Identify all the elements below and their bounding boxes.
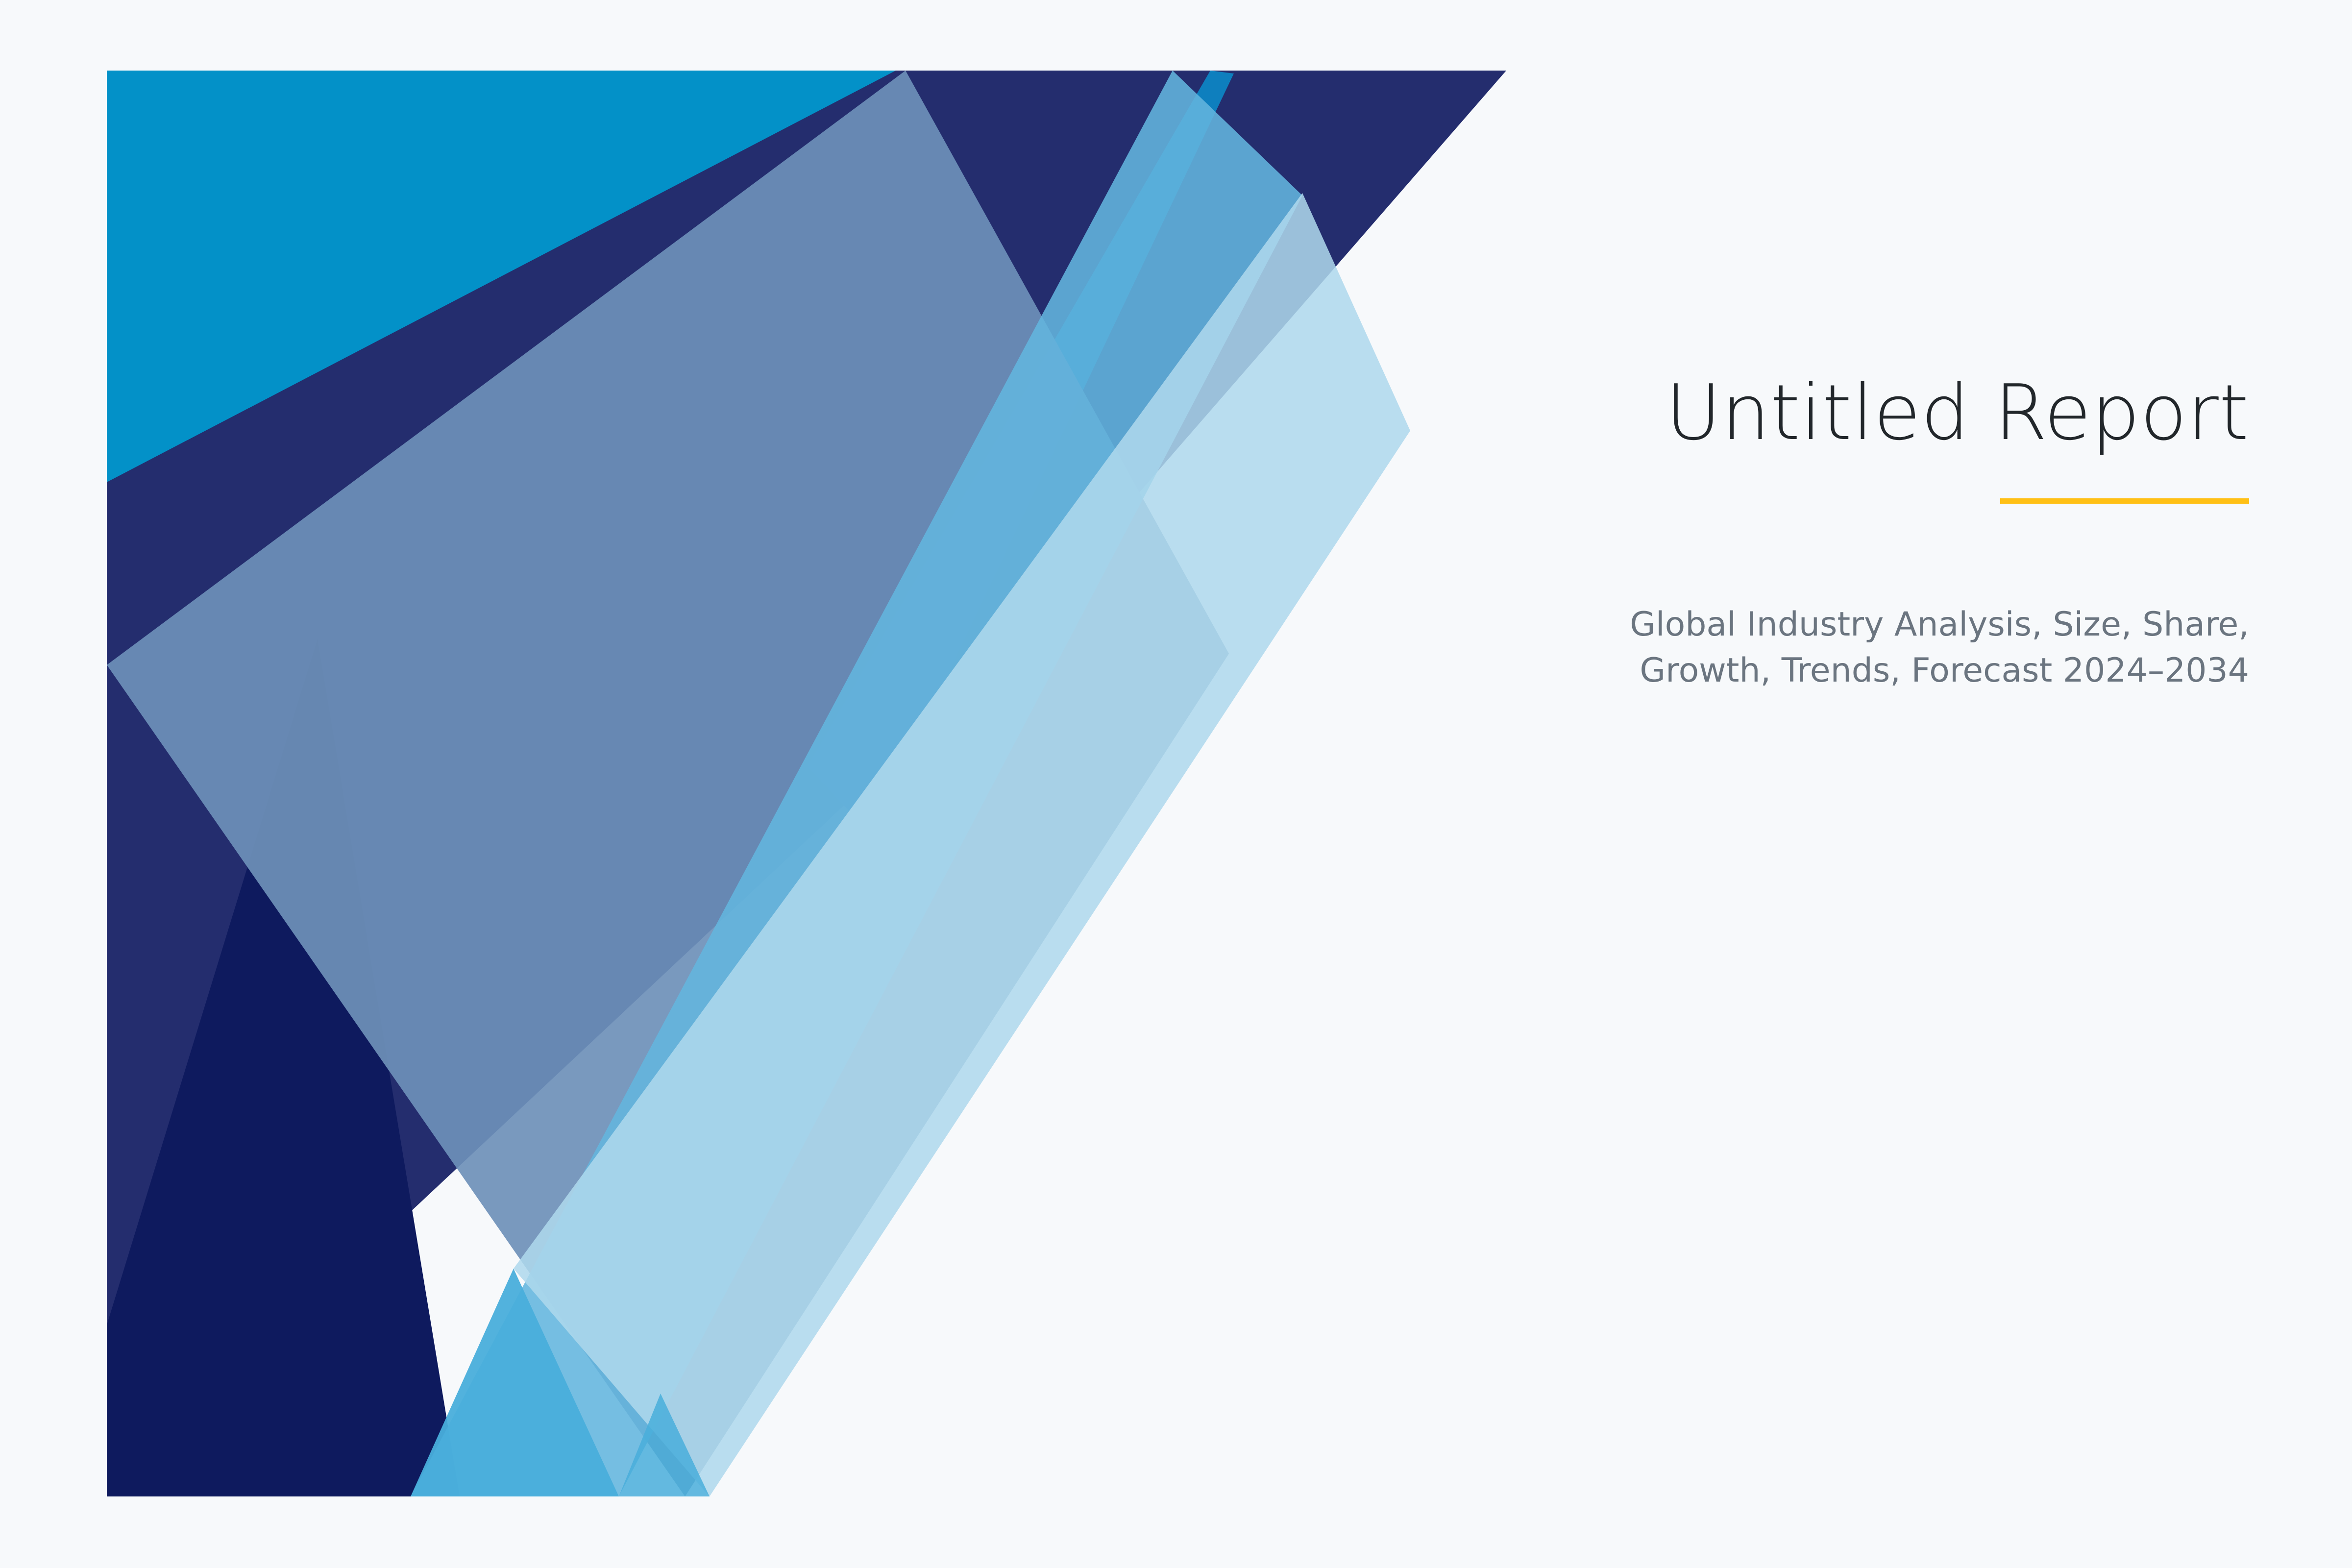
page-title: Untitled Report [1612, 372, 2249, 453]
report-cover-page: Untitled Report Global Industry Analysis… [0, 0, 2352, 1568]
cover-artwork [107, 71, 1506, 1496]
accent-rule-wrapper [1612, 498, 2249, 504]
page-subtitle-line-1: Global Industry Analysis, Size, Share, [1612, 602, 2249, 648]
page-subtitle: Global Industry Analysis, Size, Share, G… [1612, 602, 2249, 694]
page-subtitle-line-2: Growth, Trends, Forecast 2024–2034 [1612, 648, 2249, 694]
accent-rule [2000, 498, 2249, 504]
title-block: Untitled Report Global Industry Analysis… [1612, 372, 2249, 694]
abstract-geometric-graphic [107, 71, 1506, 1496]
